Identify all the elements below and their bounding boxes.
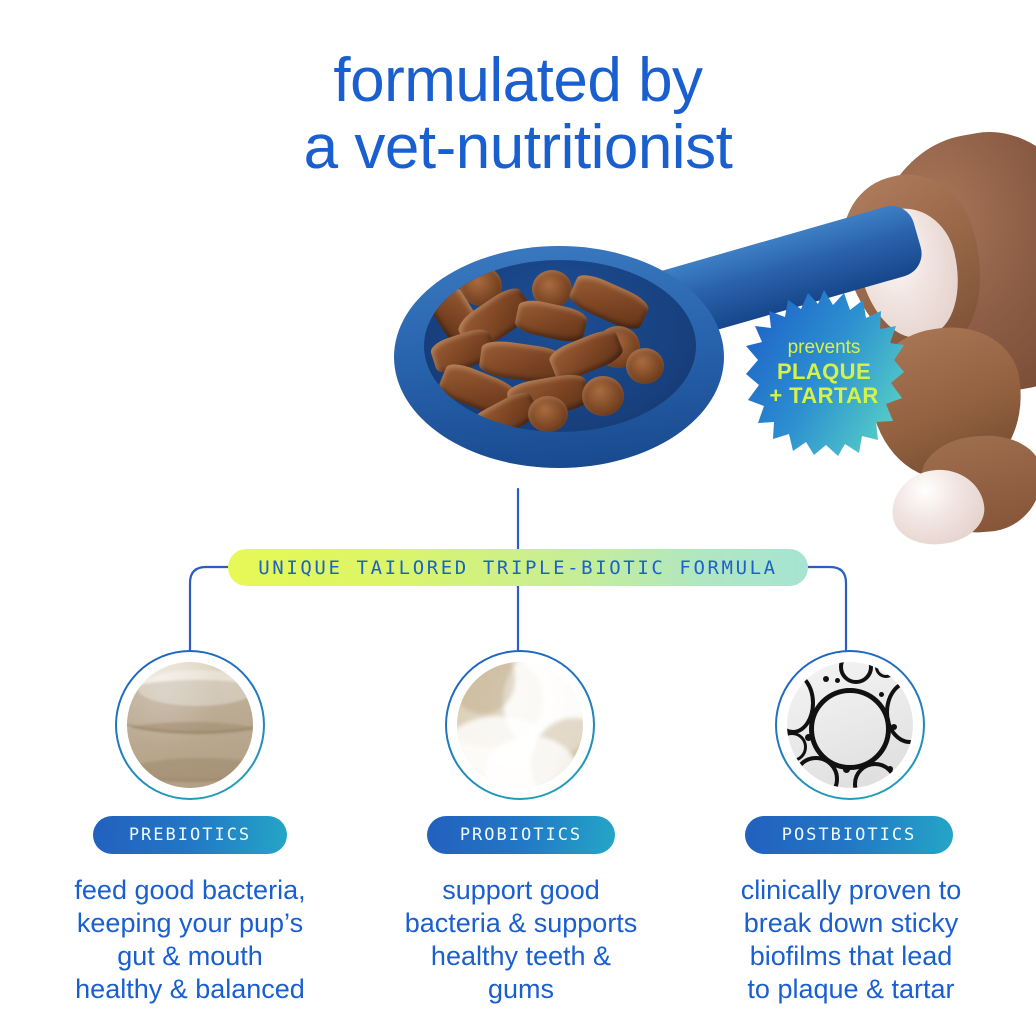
pill-probiotics-label: PROBIOTICS	[460, 825, 582, 845]
pill-prebiotics: PREBIOTICS	[93, 816, 287, 854]
probiotics-description: support good bacteria & supports healthy…	[356, 874, 686, 1006]
postbiotics-description: clinically proven to break down sticky b…	[686, 874, 1016, 1006]
prebiotics-image-circle	[115, 650, 265, 800]
headline-line-1: formulated by	[333, 46, 702, 115]
desc-line: gut & mouth	[25, 940, 355, 973]
pill-prebiotics-label: PREBIOTICS	[129, 825, 251, 845]
probiotic-cream-photo	[457, 662, 583, 788]
desc-line: healthy & balanced	[25, 973, 355, 1006]
badge-line-tartar: + TARTAR	[769, 385, 878, 407]
desc-line: support good	[356, 874, 686, 907]
pill-postbiotics: POSTBIOTICS	[745, 816, 953, 854]
desc-line: feed good bacteria,	[25, 874, 355, 907]
formula-banner: UNIQUE TAILORED TRIPLE-BIOTIC FORMULA	[228, 549, 808, 586]
desc-line: to plaque & tartar	[686, 973, 1016, 1006]
desc-line: clinically proven to	[686, 874, 1016, 907]
badge-line-plaque: PLAQUE	[777, 361, 871, 383]
pill-probiotics: PROBIOTICS	[427, 816, 615, 854]
connector-banner-to-right	[808, 567, 846, 650]
postbiotics-image-circle	[775, 650, 925, 800]
desc-line: healthy teeth &	[356, 940, 686, 973]
page-title: formulated by a vet-nutritionist	[0, 48, 1036, 182]
prebiotics-description: feed good bacteria, keeping your pup’s g…	[25, 874, 355, 1006]
desc-line: gums	[356, 973, 686, 1006]
postbiotic-microscopy-photo	[787, 662, 913, 788]
headline-line-2: a vet-nutritionist	[0, 115, 1036, 182]
probiotics-image-circle	[445, 650, 595, 800]
formula-banner-text: UNIQUE TAILORED TRIPLE-BIOTIC FORMULA	[258, 557, 777, 579]
pill-postbiotics-label: POSTBIOTICS	[782, 825, 917, 845]
prebiotic-powder-photo	[127, 662, 253, 788]
desc-line: keeping your pup’s	[25, 907, 355, 940]
desc-line: biofilms that lead	[686, 940, 1016, 973]
desc-line: bacteria & supports	[356, 907, 686, 940]
scoop-bowl-interior	[424, 260, 696, 432]
connector-banner-to-left	[190, 567, 228, 650]
badge-line-prevents: prevents	[788, 338, 861, 357]
product-photo: prevents PLAQUE + TARTAR	[0, 140, 1036, 530]
infographic-canvas: formulated by a vet-nutritionist	[0, 0, 1036, 1036]
badge-text-group: prevents PLAQUE + TARTAR	[744, 288, 904, 456]
prevents-plaque-tartar-badge: prevents PLAQUE + TARTAR	[744, 288, 904, 456]
desc-line: break down sticky	[686, 907, 1016, 940]
